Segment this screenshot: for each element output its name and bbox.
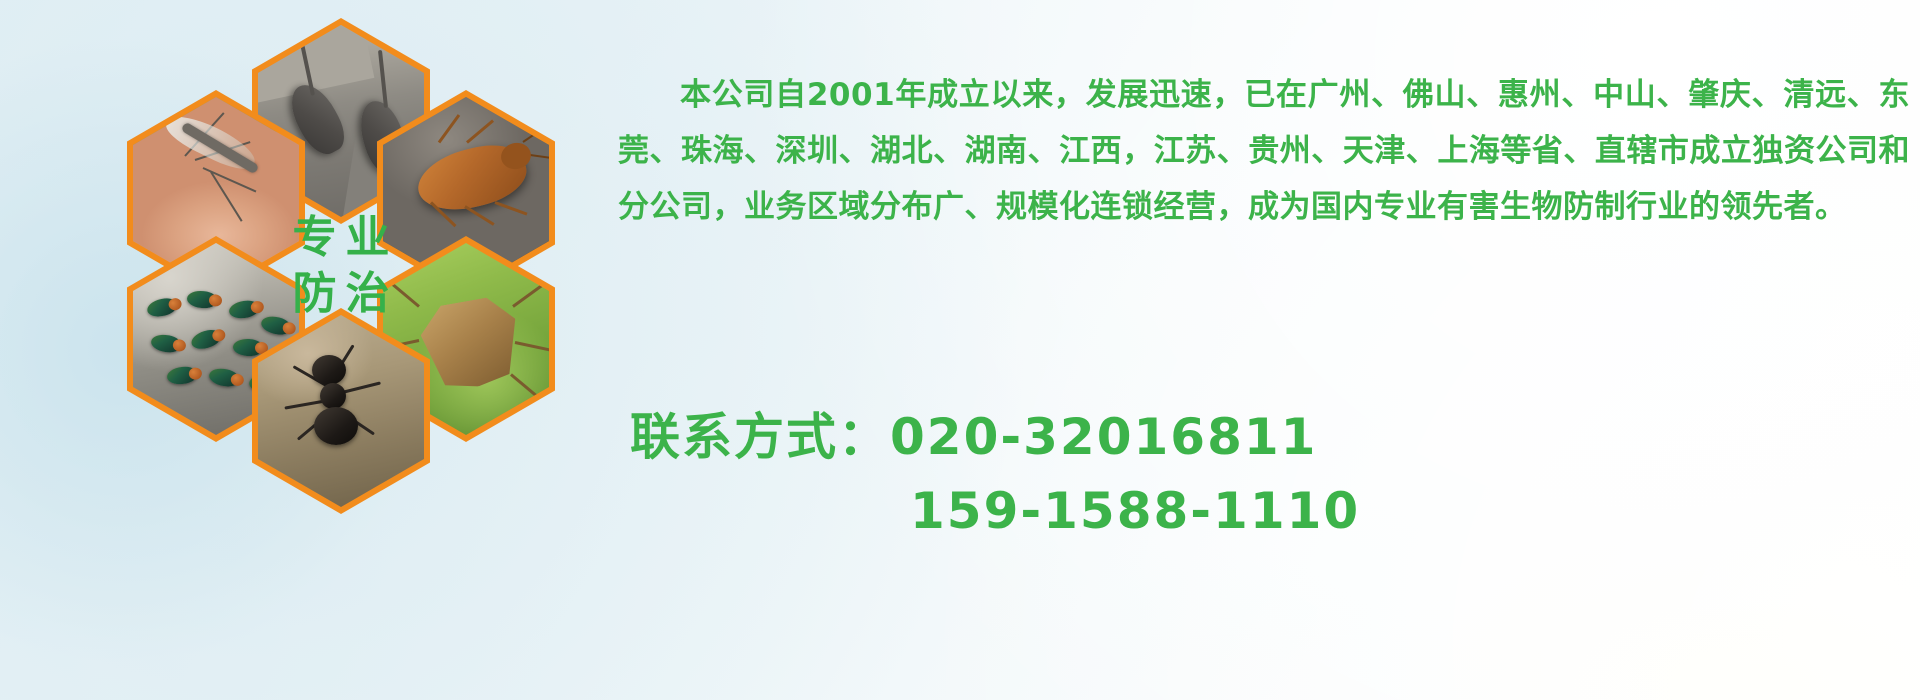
content-column: 本公司自2001年成立以来，发展迅速，已在广州、佛山、惠州、中山、肇庆、清远、东… <box>618 0 1920 700</box>
badge-line-2: 防治 <box>284 272 399 316</box>
company-intro-paragraph: 本公司自2001年成立以来，发展迅速，已在广州、佛山、惠州、中山、肇庆、清远、东… <box>618 67 1910 235</box>
contact-line-secondary[interactable]: 159-1588-1110 <box>630 474 1920 548</box>
promo-banner: 专业 防治 本公司自2001年成立以来，发展迅速，已在广州、佛山、惠州、中山、肇… <box>0 0 1920 700</box>
specialty-badge: 专业 防治 <box>252 163 430 369</box>
contact-line-primary[interactable]: 联系方式：020-32016811 <box>630 400 1920 474</box>
hexagon-photo-cluster: 专业 防治 <box>78 14 598 574</box>
contact-block: 联系方式：020-32016811 159-1588-1110 <box>630 400 1920 548</box>
badge-line-1: 专业 <box>284 216 399 260</box>
